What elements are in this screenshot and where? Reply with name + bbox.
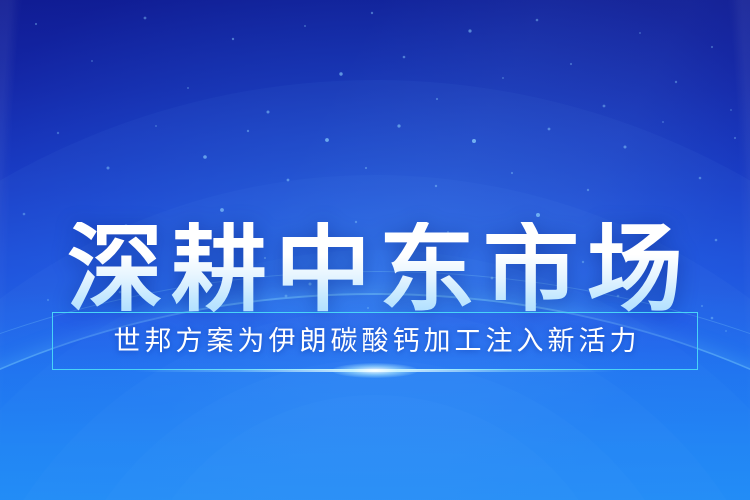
promo-banner: 深耕中东市场 世邦方案为伊朗碳酸钙加工注入新活力 — [0, 0, 750, 500]
banner-content: 深耕中东市场 世邦方案为伊朗碳酸钙加工注入新活力 — [0, 0, 750, 500]
subtitle-text: 世邦方案为伊朗碳酸钙加工注入新活力 — [110, 328, 641, 355]
main-title: 深耕中东市场 — [0, 222, 750, 318]
subtitle-box: 世邦方案为伊朗碳酸钙加工注入新活力 — [52, 312, 698, 370]
